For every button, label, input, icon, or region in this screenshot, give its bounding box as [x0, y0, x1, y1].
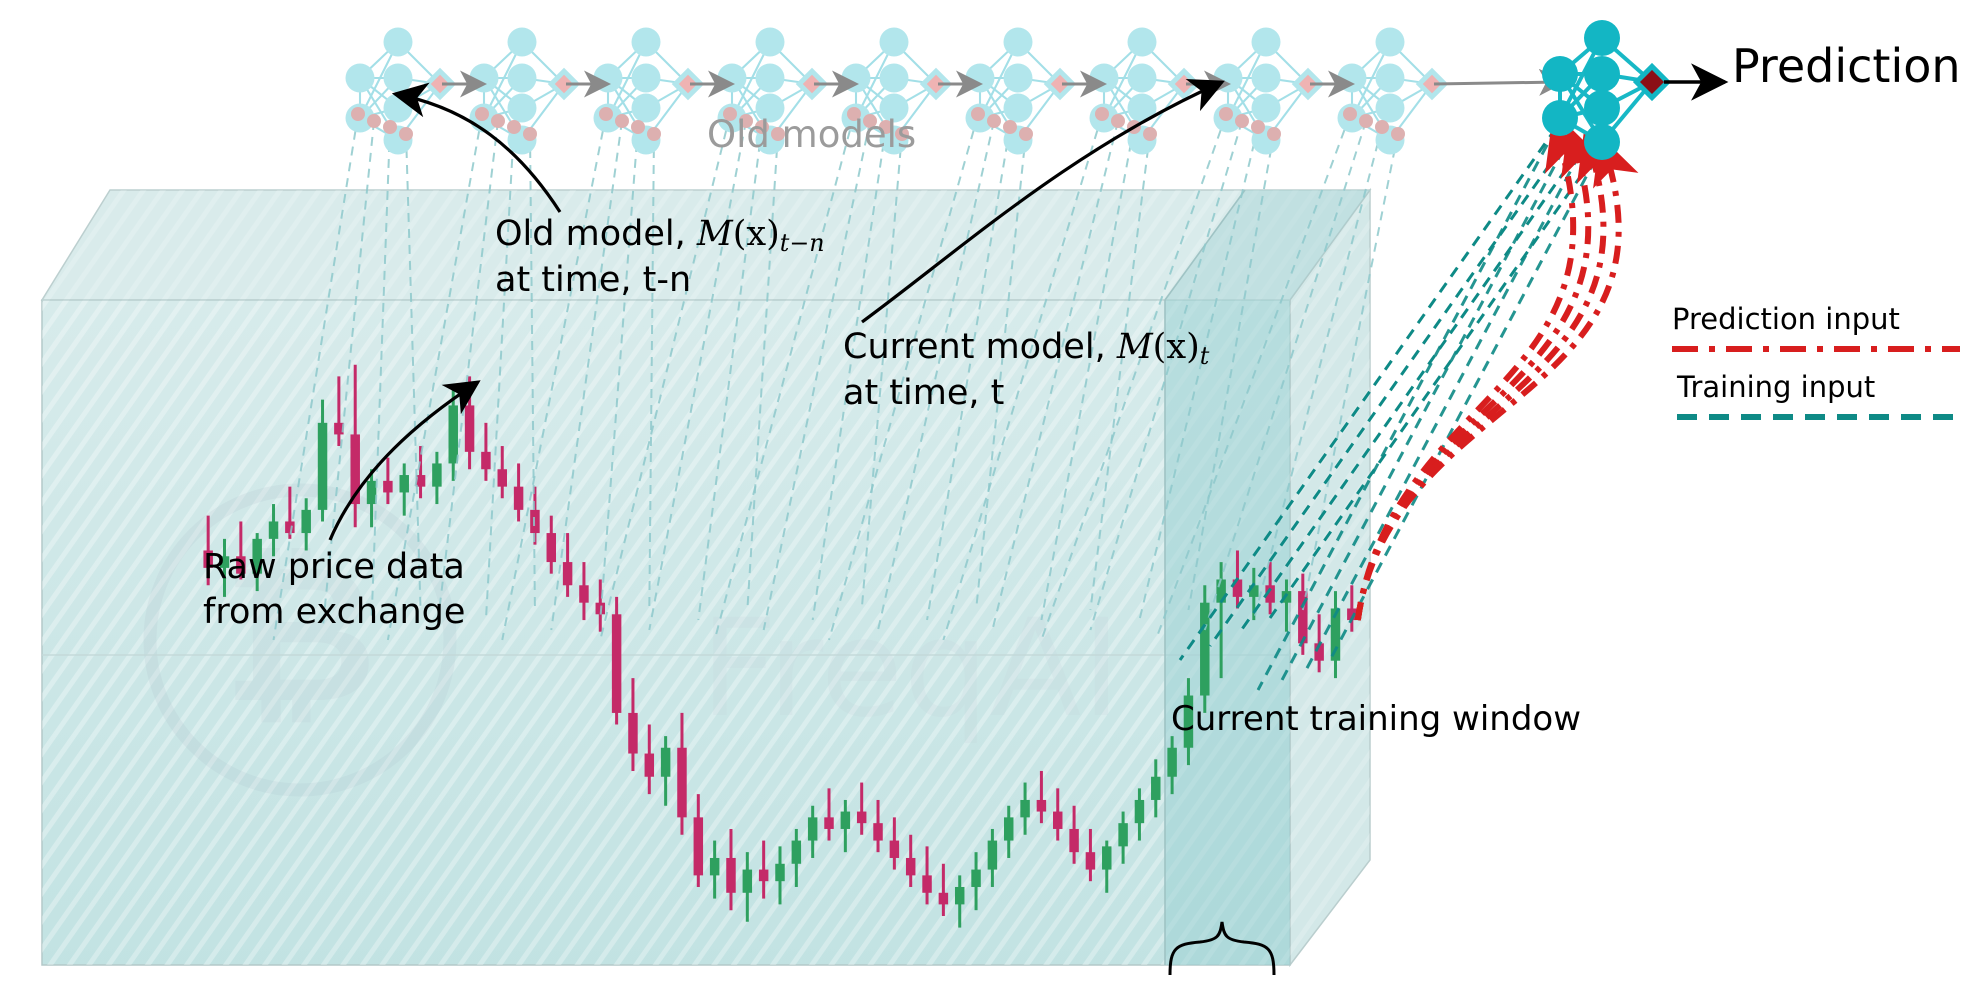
current-model-symbol-sub: t: [1200, 342, 1210, 370]
current-training-window-label: Current training window: [1171, 699, 1581, 739]
prediction-input-line: [1358, 141, 1619, 620]
old-model-symbol-M: M: [697, 214, 733, 254]
old-model-network: [1214, 28, 1321, 155]
current-model-symbol-arg: (x): [1153, 327, 1200, 367]
legend-label-training-input: Training input: [1677, 370, 1875, 404]
old-model-network: [346, 28, 453, 155]
old-model-network: [1090, 28, 1197, 155]
current-model-annotation-prefix: Current model,: [843, 327, 1117, 367]
raw-price-annotation: Raw price data from exchange: [203, 545, 465, 635]
diagram-graphics: ₿ FreqAI: [0, 0, 1966, 981]
old-model-annotation: Old model, M(x)t−n at time, t-n: [495, 212, 825, 303]
current-model-annotation: Current model, M(x)t at time, t: [843, 325, 1209, 416]
current-model-annotation-line2: at time, t: [843, 371, 1209, 416]
prediction-input-line: [1358, 136, 1604, 620]
old-model-network: [966, 28, 1073, 155]
old-model-symbol-sub: t−n: [780, 229, 825, 257]
diagram-canvas: ₿ FreqAI: [0, 0, 1966, 981]
old-model-network: [470, 28, 577, 155]
old-model-symbol-arg: (x): [733, 214, 780, 254]
prediction-input-lines: [1358, 126, 1619, 620]
old-model-network: [594, 28, 701, 155]
old-model-network: [1338, 28, 1445, 155]
current-model-symbol-M: M: [1117, 327, 1153, 367]
prediction-label: Prediction: [1732, 39, 1961, 93]
raw-price-annotation-line1: Raw price data: [203, 545, 465, 590]
svg-text:FreqAI: FreqAI: [700, 590, 1121, 747]
old-models-label: Old models: [707, 113, 916, 156]
legend-label-prediction-input: Prediction input: [1672, 302, 1900, 336]
old-model-annotation-prefix: Old model,: [495, 214, 697, 254]
raw-price-annotation-line2: from exchange: [203, 590, 465, 635]
prediction-input-line: [1358, 131, 1588, 620]
old-model-annotation-line2: at time, t-n: [495, 258, 825, 303]
training-input-line-current: [1330, 143, 1604, 660]
